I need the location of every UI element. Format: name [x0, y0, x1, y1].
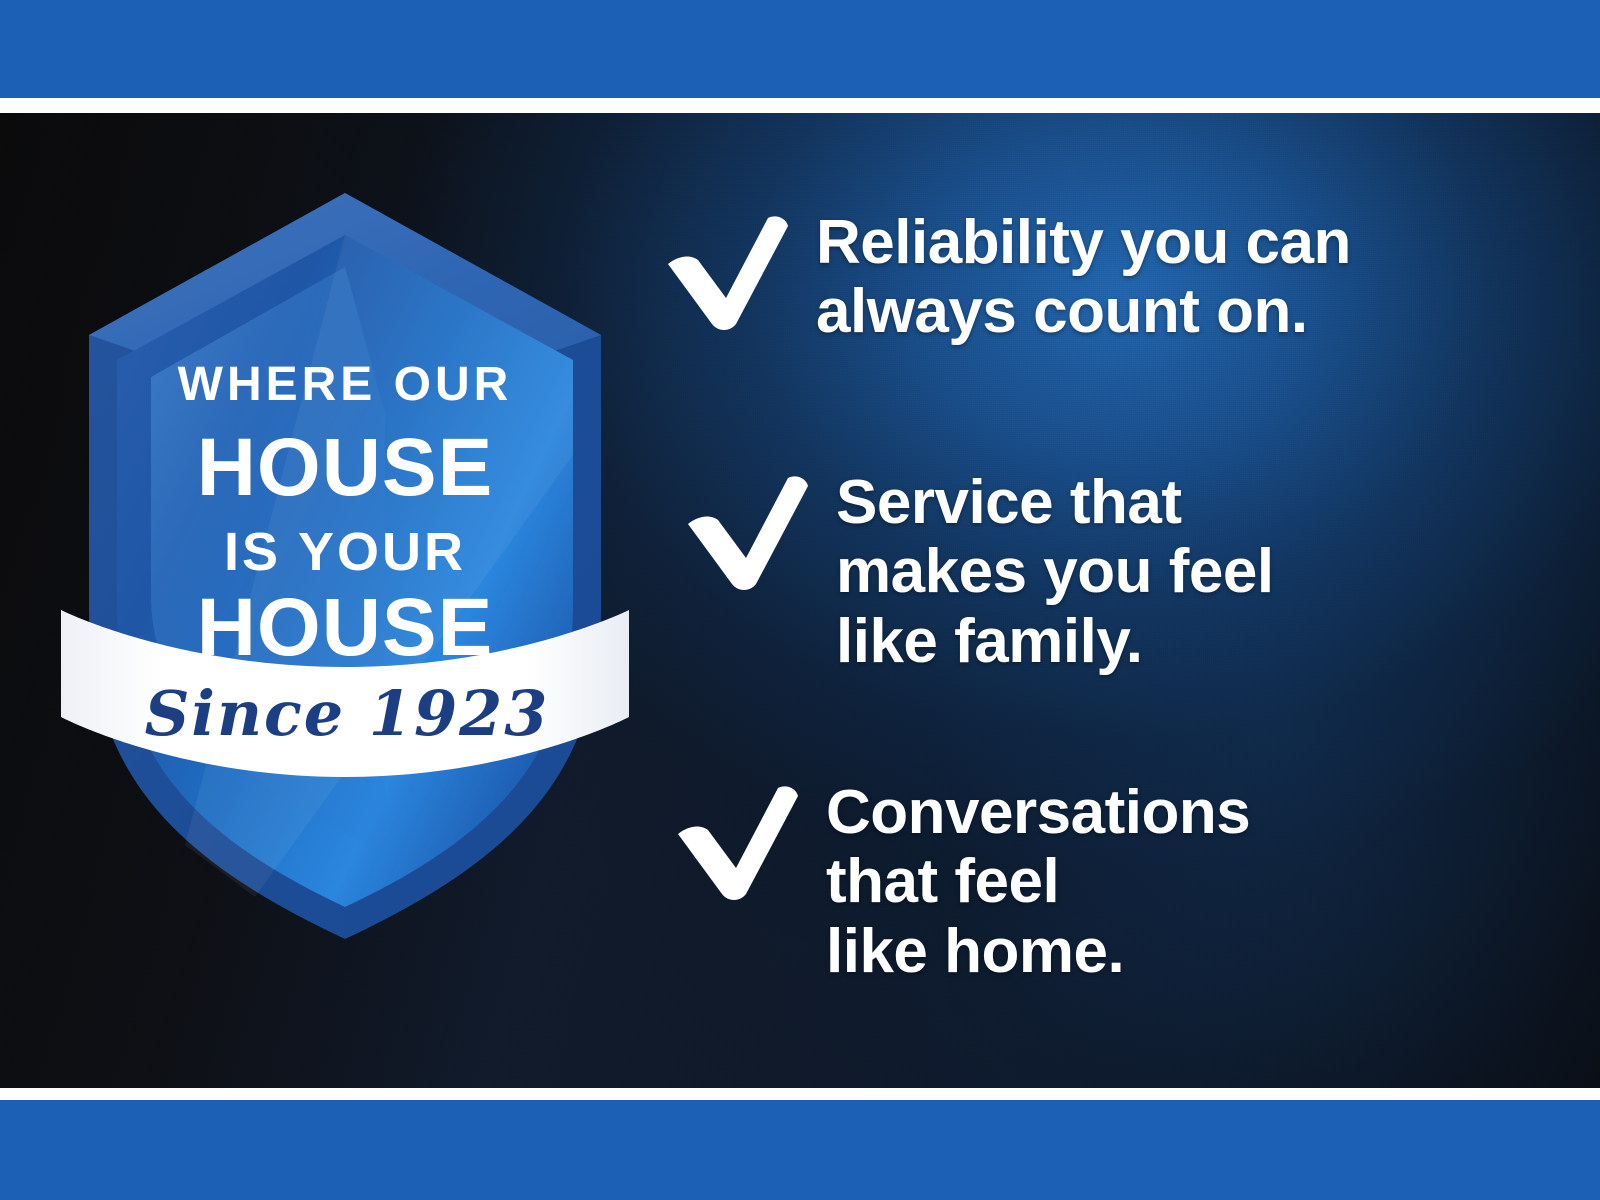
promo-graphic: WHERE OUR HOUSE IS YOUR HOUSE Since 1923… — [0, 0, 1600, 1200]
checkmark-icon — [660, 212, 792, 332]
logo-line-2: HOUSE — [197, 422, 494, 513]
checkmark-icon — [670, 782, 802, 902]
benefit-text: Reliability you can always count on. — [816, 208, 1351, 347]
top-divider-stripe — [0, 98, 1600, 113]
benefit-text: Service that makes you feel like family. — [836, 468, 1274, 676]
benefits-list: Reliability you can always count on. Ser… — [660, 113, 1540, 1088]
logo-line-3: IS YOUR — [224, 522, 466, 582]
bottom-divider-stripe — [0, 1088, 1600, 1100]
logo-line-4: HOUSE — [197, 582, 494, 673]
logo-line-1: WHERE OUR — [178, 358, 513, 411]
benefit-text: Conversations that feel like home. — [826, 778, 1250, 986]
logo-banner-text: Since 1923 — [145, 677, 550, 750]
bottom-brand-bar — [0, 1100, 1600, 1200]
checkmark-icon — [680, 472, 812, 592]
top-brand-bar — [0, 0, 1600, 98]
benefit-item: Service that makes you feel like family. — [680, 468, 1274, 676]
benefit-item: Conversations that feel like home. — [670, 778, 1250, 986]
benefit-item: Reliability you can always count on. — [660, 208, 1351, 347]
shield-logo: WHERE OUR HOUSE IS YOUR HOUSE Since 1923 — [55, 155, 635, 945]
